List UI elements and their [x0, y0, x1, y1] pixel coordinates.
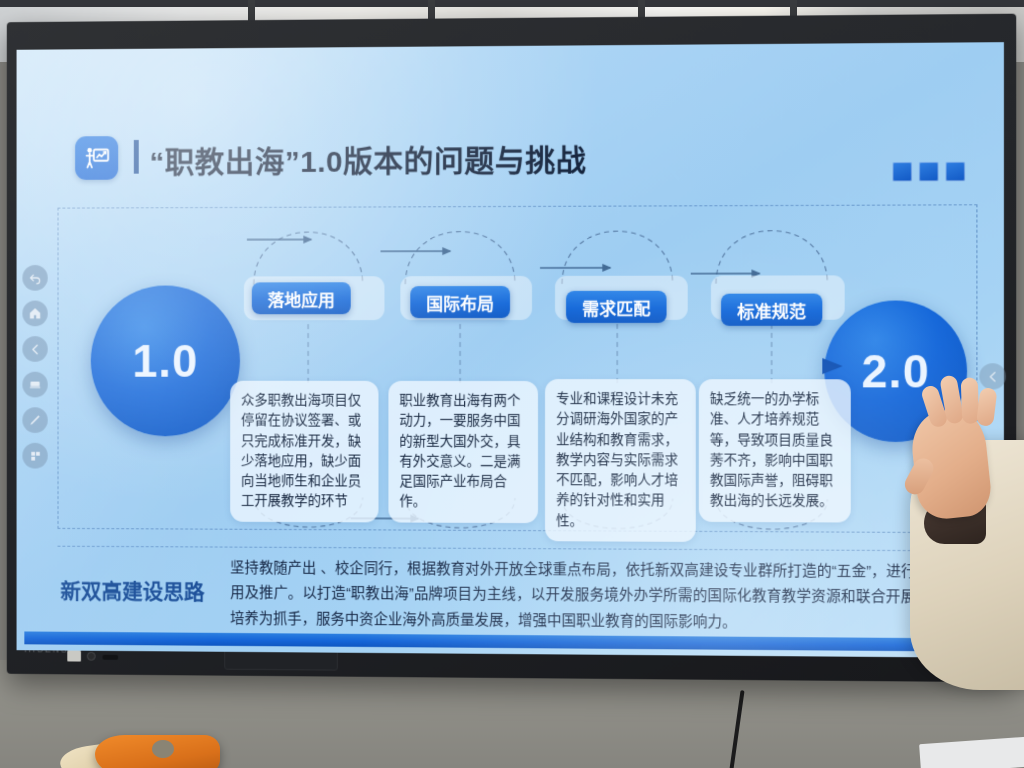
display-power-led: [87, 652, 96, 661]
teaching-board-icon: [75, 136, 118, 180]
issue-card-3: 专业和课程设计未充分调研海外国家的产业结构和教育需求，教学内容与实际需求不匹配，…: [545, 379, 696, 542]
pen-icon[interactable]: [22, 407, 47, 433]
footer-divider: [58, 546, 978, 552]
screen-tool-rail[interactable]: [22, 265, 47, 469]
page-title: “职教出海”1.0版本的问题与挑战: [150, 136, 587, 182]
issue-card-1: 众多职教出海项目仅停留在协议签署、或只完成标准开发，缺少落地应用，缺少面向当地师…: [230, 381, 378, 522]
display-control-button[interactable]: [67, 651, 81, 662]
display-ir-sensor: [102, 655, 118, 660]
interactive-display-bezel: HISENSE “职教出海”1.0版本的问题与挑战: [7, 14, 1016, 683]
window-frame: [0, 0, 1024, 7]
thumb: [901, 455, 936, 498]
classroom-scene: HISENSE “职教出海”1.0版本的问题与挑战: [0, 0, 1024, 768]
screen-edge-collapse-button[interactable]: [979, 363, 1006, 389]
process-pill-1[interactable]: 落地应用: [252, 282, 351, 314]
process-pill-2[interactable]: 国际布局: [410, 286, 510, 318]
footer-paragraph: 坚持教随产出 、校企同行，根据教育对外开放全球重点布局，依托新双高建设专业群所打…: [230, 557, 975, 638]
issue-card-2: 职业教育出海有两个动力，一要服务中国的新型大国外交，具有外交意义。二是满足国际产…: [388, 381, 538, 523]
finger: [976, 387, 998, 427]
process-pill-3[interactable]: 需求匹配: [566, 291, 666, 323]
eraser-icon[interactable]: [22, 372, 47, 398]
issue-card-4: 缺乏统一的办学标准、人才培养规范等，导致项目质量良莠不齐，影响中国职教国际声誉，…: [699, 379, 851, 522]
decoration-square: [919, 162, 938, 181]
hand-palm: [909, 406, 994, 521]
title-accent-bar: [134, 140, 139, 174]
process-pill-4[interactable]: 标准规范: [721, 294, 822, 326]
footer-label: 新双高建设思路: [60, 575, 204, 606]
decoration-square: [893, 162, 912, 181]
chevron-left-icon[interactable]: [22, 336, 47, 362]
desk-object-round: [152, 740, 174, 758]
presenter-hand: [900, 400, 1024, 700]
undo-arrow-icon[interactable]: [22, 265, 47, 291]
apps-icon[interactable]: [22, 443, 47, 469]
decoration-square: [946, 162, 965, 181]
presentation-slide: “职教出海”1.0版本的问题与挑战: [17, 42, 1004, 658]
decoration-squares: [893, 162, 965, 182]
home-icon[interactable]: [22, 301, 47, 327]
